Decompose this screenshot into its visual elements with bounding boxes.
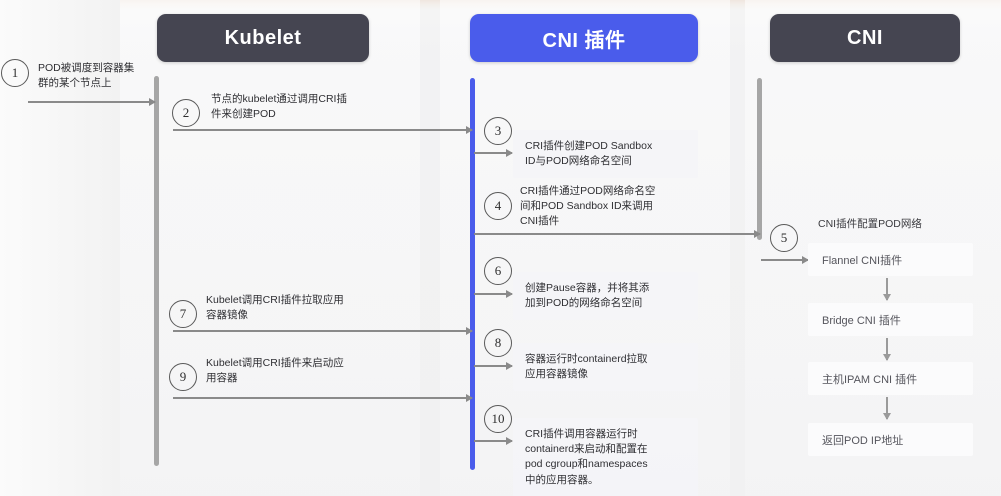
cni-chain-box-ipam[interactable]: 主机IPAM CNI 插件 <box>808 362 973 395</box>
arrow-2-kubelet-to-cni-plugin <box>173 129 472 131</box>
step-4-label: 4 <box>495 198 502 214</box>
cni-chain-box-ipam-label: 主机IPAM CNI 插件 <box>822 371 917 387</box>
lifeline-kubelet <box>154 76 159 466</box>
step-2-message: 节点的kubelet通过调用CRI插 件来创建POD <box>211 92 396 122</box>
step-6-message: 创建Pause容器，并将其添 加到POD的网络命名空间 <box>513 272 698 320</box>
step-number-4: 4 <box>484 192 512 220</box>
arrow-10-cni-plugin-self <box>474 440 512 442</box>
cni-chain-box-flannel[interactable]: Flannel CNI插件 <box>808 243 973 276</box>
step-2-label: 2 <box>183 105 190 121</box>
actor-header-kubelet[interactable]: Kubelet <box>157 14 369 62</box>
arrow-8-cni-plugin-self <box>474 365 512 367</box>
arrow-9-kubelet-to-cni-plugin <box>173 397 472 399</box>
arrow-6-cni-plugin-self <box>474 293 512 295</box>
cni-chain-box-bridge-label: Bridge CNI 插件 <box>822 312 901 328</box>
step-3-label: 3 <box>495 123 502 139</box>
actor-label-kubelet: Kubelet <box>225 27 302 50</box>
cni-chain-box-flannel-label: Flannel CNI插件 <box>822 252 902 268</box>
step-number-6: 6 <box>484 257 512 285</box>
arrow-3-cni-plugin-self <box>474 152 512 154</box>
cni-chain-arrow-2 <box>886 338 888 360</box>
step-1-label: 1 <box>12 65 19 81</box>
cni-chain-arrow-3 <box>886 397 888 419</box>
step-7-label: 7 <box>180 306 187 322</box>
cni-chain-box-bridge[interactable]: Bridge CNI 插件 <box>808 303 973 336</box>
step-7-message: Kubelet调用CRI插件拉取应用 容器镜像 <box>206 293 406 323</box>
cni-chain-box-return-ip-label: 返回POD IP地址 <box>822 432 903 448</box>
step-9-label: 9 <box>180 369 187 385</box>
step-9-message: Kubelet调用CRI插件来启动应 用容器 <box>206 356 406 386</box>
arrow-7-kubelet-to-cni-plugin <box>173 330 472 332</box>
actor-label-cni-plugin: CNI 插件 <box>543 24 626 53</box>
step-number-1: 1 <box>1 59 29 87</box>
step-10-message: CRI插件调用容器运行时 containerd来启动和配置在 pod cgrou… <box>513 418 698 496</box>
step-5-label: 5 <box>781 230 788 246</box>
step-10-label: 10 <box>492 411 505 427</box>
cni-chain-arrow-1 <box>886 278 888 300</box>
arrow-5-cni-to-chain <box>761 259 808 261</box>
cni-chain-box-return-ip[interactable]: 返回POD IP地址 <box>808 423 973 456</box>
lifeline-cni <box>757 78 762 240</box>
arrow-4-cni-plugin-to-cni <box>474 233 760 235</box>
step-number-5: 5 <box>770 224 798 252</box>
actor-label-cni: CNI <box>847 27 883 50</box>
step-number-9: 9 <box>169 363 197 391</box>
step-number-7: 7 <box>169 300 197 328</box>
step-number-10: 10 <box>484 405 512 433</box>
lifeline-cni-plugin <box>470 78 475 470</box>
step-number-2: 2 <box>172 99 200 127</box>
step-number-3: 3 <box>484 117 512 145</box>
step-8-label: 8 <box>495 335 502 351</box>
sequence-diagram-canvas: Kubelet CNI 插件 CNI 1 POD被调度到容器集 群的某个节点上 … <box>0 0 1001 496</box>
lane-wash-kubelet <box>120 0 420 496</box>
step-number-8: 8 <box>484 329 512 357</box>
step-4-message: CRI插件通过POD网络命名空 间和POD Sandbox ID来调用 CNI插… <box>520 184 692 230</box>
actor-header-cni-plugin[interactable]: CNI 插件 <box>470 14 698 62</box>
cni-chain-title: CNI插件配置POD网络 <box>818 216 922 231</box>
step-8-message: 容器运行时containerd拉取 应用容器镜像 <box>513 343 698 391</box>
actor-header-cni[interactable]: CNI <box>770 14 960 62</box>
step-1-message: POD被调度到容器集 群的某个节点上 <box>38 61 153 91</box>
step-3-message: CRI插件创建POD Sandbox ID与POD网络命名空间 <box>513 130 698 178</box>
arrow-1-external-to-kubelet <box>28 101 155 103</box>
step-6-label: 6 <box>495 263 502 279</box>
